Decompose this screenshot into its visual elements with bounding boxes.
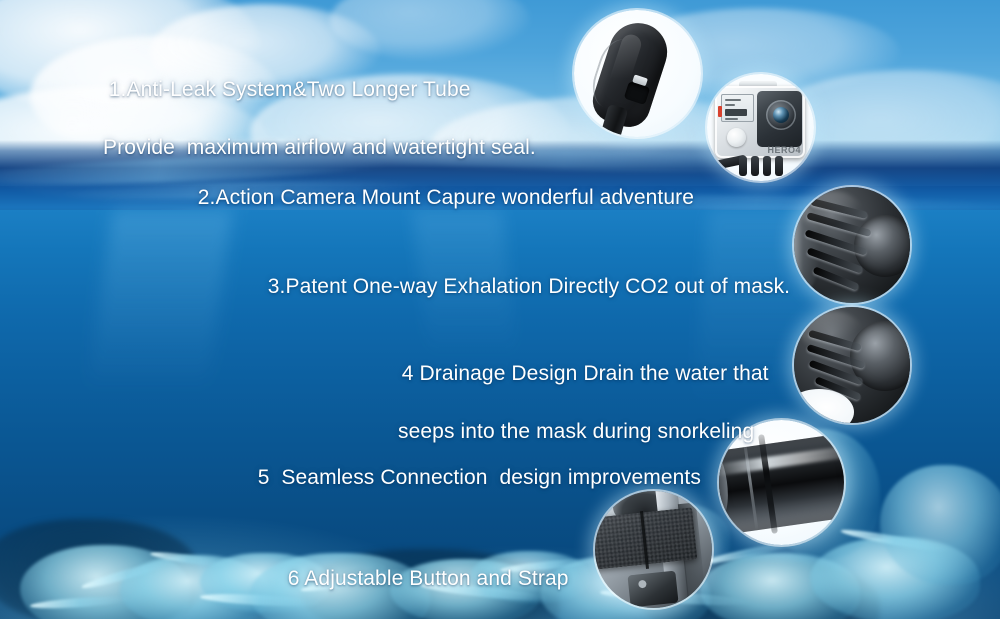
feature-text-6: 6 Adjustable Button and Strap (264, 535, 569, 619)
camera-waterproof-housing: HERO4 (715, 86, 805, 158)
feature-3-line-1: 3.Patent One-way Exhalation Directly CO2… (268, 275, 790, 298)
mount-finger (775, 156, 783, 176)
mount-finger (751, 156, 759, 176)
product-inset-action-camera[interactable]: HERO4 (707, 74, 814, 181)
feature-2-line-1: 2.Action Camera Mount Capure wonderful a… (198, 186, 694, 209)
lcd-text-line (725, 109, 747, 116)
camera-body (757, 91, 802, 147)
product-inset-drainage-design[interactable] (794, 307, 910, 423)
feature-text-3: 3.Patent One-way Exhalation Directly CO2… (244, 243, 790, 330)
feature-text-5: 5 Seamless Connection design improvement… (234, 434, 701, 521)
lcd-text-line (725, 99, 741, 101)
feature-text-2: 2.Action Camera Mount Capure wonderful a… (174, 154, 694, 241)
feature-1-line-1: 1.Anti-Leak System&Two Longer Tube (109, 78, 471, 101)
mount-finger (763, 156, 771, 176)
lcd-text-line (725, 118, 738, 120)
feature-5-line-1: 5 Seamless Connection design improvement… (258, 466, 701, 489)
feature-6-line-1: 6 Adjustable Button and Strap (288, 567, 569, 590)
camera-mount-fingers (733, 156, 785, 178)
product-inset-exhalation-valve[interactable] (794, 187, 910, 303)
camera-model-label: HERO4 (767, 145, 801, 155)
valve-gloss-highlight (800, 311, 862, 351)
infographic-banner: HERO4 (0, 0, 1000, 619)
mount-finger (739, 156, 747, 176)
valve-gloss-highlight (800, 191, 862, 231)
strap-adjust-buckle (627, 571, 678, 608)
feature-4-line-1: 4 Drainage Design Drain the water that (402, 362, 769, 385)
camera-lcd-screen (721, 94, 754, 122)
product-inset-valve-top[interactable] (574, 10, 701, 137)
camera-lens (766, 100, 796, 130)
lcd-text-line (725, 104, 735, 106)
camera-status-indicator (718, 106, 722, 117)
camera-shutter-button (727, 128, 746, 147)
